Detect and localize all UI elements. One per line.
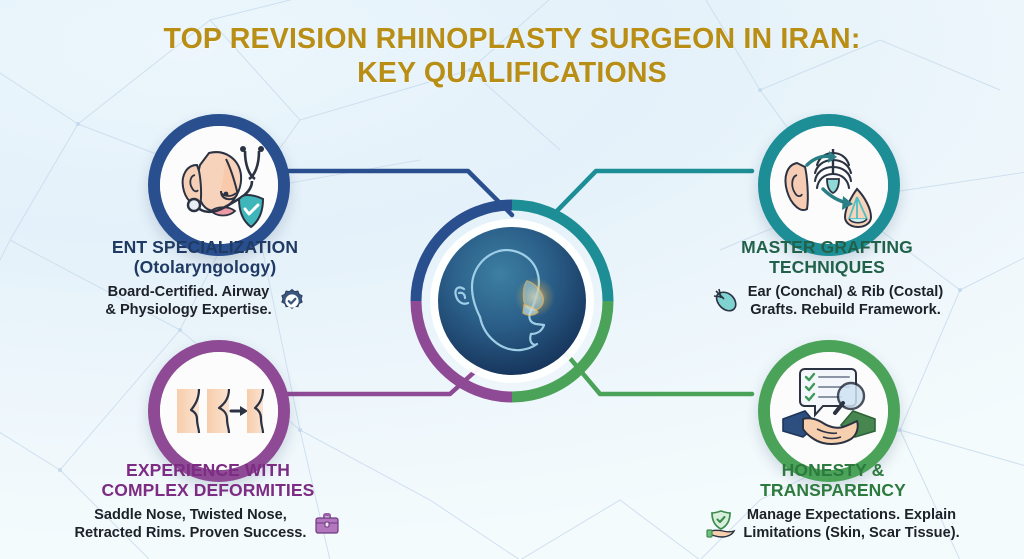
verified-badge-icon [279,288,305,314]
text-block-honesty-transparency: HONESTY & TRANSPARENCY Manage Expectatio… [688,460,978,543]
shield-hand-icon [706,509,736,539]
ear-nose-throat-stethoscope-icon [169,135,269,235]
honesty-subtext-row: Manage Expectations. Explain Limitations… [688,506,978,543]
complex-subtext-row: Saddle Nose, Twisted Nose, Retracted Rim… [58,506,358,543]
complex-sub-line-2: Retracted Rims. Proven Success. [75,525,307,541]
honesty-sub-line-2: Limitations (Skin, Scar Tissue). [743,525,959,541]
grafting-sub-line-1: Ear (Conchal) & Rib (Costal) [748,284,943,300]
briefcase-icon [313,511,341,537]
ent-sub-line-2: & Physiology Expertise. [105,302,271,318]
ent-sub-line-1: Board-Certified. Airway [108,284,270,300]
node-circle-master-grafting[interactable] [758,114,900,256]
handshake-checklist-magnifier-icon [779,361,879,461]
grafting-sub-line-2: Grafts. Rebuild Framework. [750,302,941,318]
center-hub [404,193,620,409]
node-circle-ent-specialization[interactable] [148,114,290,256]
grafting-heading-line-2: TECHNIQUES [769,257,885,277]
ent-heading-line-1: ENT SPECIALIZATION [112,237,298,257]
grafting-heading-line-1: MASTER GRAFTING [741,237,913,257]
ent-heading-line-2: (Otolaryngology) [134,257,277,277]
page-title: TOP REVISION RHINOPLASTY SURGEON IN IRAN… [0,22,1024,90]
cartilage-graft-icon [711,287,741,315]
text-block-ent-specialization: ENT SPECIALIZATION (Otolaryngology) Boar… [60,237,350,320]
text-block-master-grafting: MASTER GRAFTING TECHNIQUES Ear (Conchal)… [682,237,972,320]
honesty-heading-line-1: HONESTY & [782,460,885,480]
complex-heading-line-1: EXPERIENCE WITH [126,460,290,480]
ent-subtext-row: Board-Certified. Airway & Physiology Exp… [60,283,350,320]
honesty-heading-line-2: TRANSPARENCY [760,480,906,500]
title-line-1: TOP REVISION RHINOPLASTY SURGEON IN IRAN… [163,23,860,55]
grafting-subtext-row: Ear (Conchal) & Rib (Costal) Grafts. Reb… [682,283,972,320]
text-block-complex-deformities: EXPERIENCE WITH COMPLEX DEFORMITIES Sadd… [58,460,358,543]
title-line-2: KEY QUALIFICATIONS [0,56,1024,90]
ear-ribcage-nose-graft-icon [779,135,879,235]
complex-heading-line-2: COMPLEX DEFORMITIES [102,480,315,500]
infographic-canvas: TOP REVISION RHINOPLASTY SURGEON IN IRAN… [0,0,1024,559]
nose-profile-correction-icon [169,361,269,461]
honesty-sub-line-1: Manage Expectations. Explain [747,507,956,523]
complex-sub-line-1: Saddle Nose, Twisted Nose, [94,507,287,523]
